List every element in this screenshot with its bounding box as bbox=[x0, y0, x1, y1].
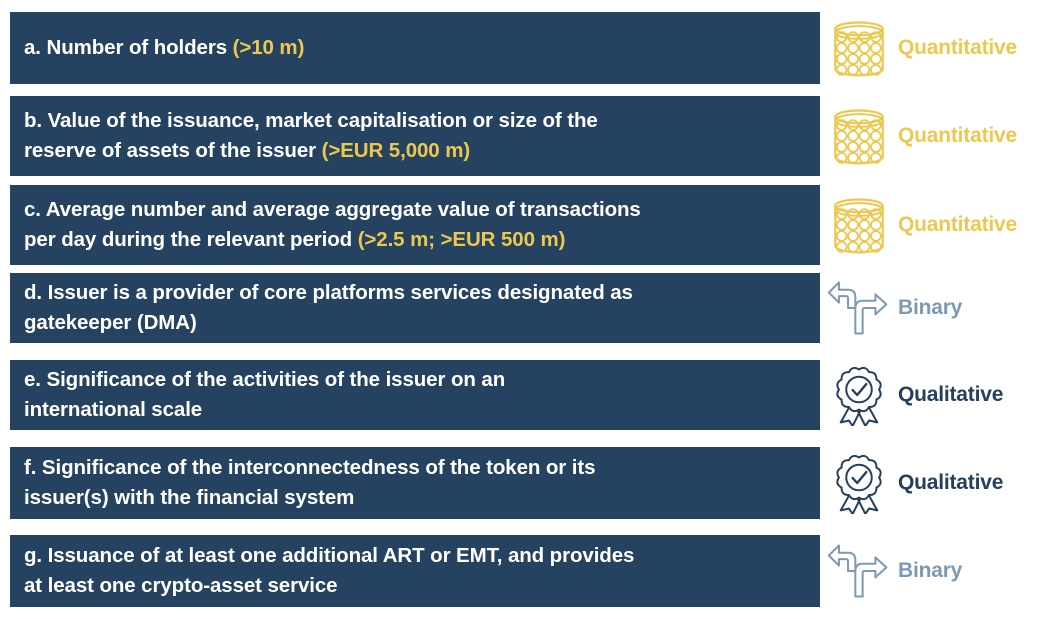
type-label-binary: Binary bbox=[898, 296, 962, 320]
criterion-label-c: c. Average number and average aggregate … bbox=[24, 198, 641, 221]
type-label-qualitative: Qualitative bbox=[898, 383, 1003, 407]
criterion-label-d: d. Issuer is a provider of core platform… bbox=[24, 281, 633, 304]
type-label-quantitative: Quantitative bbox=[898, 36, 1017, 60]
cylinder-of-coins-icon bbox=[828, 194, 890, 256]
criterion-label-b: b. Value of the issuance, market capital… bbox=[24, 109, 598, 132]
criterion-text-line: e. Significance of the activities of the… bbox=[24, 365, 806, 395]
criterion-text-line: international scale bbox=[24, 395, 806, 425]
criterion-label-f: issuer(s) with the financial system bbox=[24, 486, 354, 509]
criterion-type-c: Quantitative bbox=[828, 194, 1017, 256]
criterion-box-a: a. Number of holders (>10 m) bbox=[10, 12, 820, 84]
criterion-label-c: per day during the relevant period bbox=[24, 228, 358, 251]
criteria-list: a. Number of holders (>10 m)Quantitative… bbox=[0, 0, 1060, 619]
criterion-type-d: Binary bbox=[828, 277, 962, 339]
criterion-threshold-a: (>10 m) bbox=[233, 36, 305, 59]
criterion-box-b: b. Value of the issuance, market capital… bbox=[10, 96, 820, 176]
criterion-row-a: a. Number of holders (>10 m)Quantitative bbox=[0, 12, 1060, 84]
criterion-row-e: e. Significance of the activities of the… bbox=[0, 360, 1060, 430]
fork-arrows-icon bbox=[828, 277, 890, 339]
criterion-text-line: a. Number of holders (>10 m) bbox=[24, 33, 806, 63]
type-label-quantitative: Quantitative bbox=[898, 213, 1017, 237]
criterion-text-line: reserve of assets of the issuer (>EUR 5,… bbox=[24, 136, 806, 166]
criterion-text-line: d. Issuer is a provider of core platform… bbox=[24, 278, 806, 308]
criterion-text-line: g. Issuance of at least one additional A… bbox=[24, 541, 806, 571]
criterion-label-e: international scale bbox=[24, 398, 202, 421]
criterion-row-c: c. Average number and average aggregate … bbox=[0, 185, 1060, 265]
criterion-box-c: c. Average number and average aggregate … bbox=[10, 185, 820, 265]
type-label-quantitative: Quantitative bbox=[898, 124, 1017, 148]
type-label-qualitative: Qualitative bbox=[898, 471, 1003, 495]
criterion-type-g: Binary bbox=[828, 540, 962, 602]
fork-arrows-icon bbox=[828, 540, 890, 602]
criterion-threshold-b: (>EUR 5,000 m) bbox=[322, 139, 470, 162]
criterion-text-line: b. Value of the issuance, market capital… bbox=[24, 106, 806, 136]
cylinder-of-coins-icon bbox=[828, 105, 890, 167]
criterion-label-d: gatekeeper (DMA) bbox=[24, 311, 197, 334]
criterion-box-d: d. Issuer is a provider of core platform… bbox=[10, 273, 820, 343]
criterion-text-line: at least one crypto-asset service bbox=[24, 571, 806, 601]
criterion-type-f: Qualitative bbox=[828, 452, 1003, 514]
criterion-text-line: per day during the relevant period (>2.5… bbox=[24, 225, 806, 255]
criterion-label-a: a. Number of holders bbox=[24, 36, 233, 59]
criterion-text-line: gatekeeper (DMA) bbox=[24, 308, 806, 338]
criterion-type-e: Qualitative bbox=[828, 364, 1003, 426]
criterion-row-b: b. Value of the issuance, market capital… bbox=[0, 96, 1060, 176]
rosette-check-icon bbox=[828, 452, 890, 514]
criterion-label-g: g. Issuance of at least one additional A… bbox=[24, 544, 634, 567]
criterion-box-g: g. Issuance of at least one additional A… bbox=[10, 535, 820, 607]
cylinder-of-coins-icon bbox=[828, 17, 890, 79]
criterion-row-f: f. Significance of the interconnectednes… bbox=[0, 447, 1060, 519]
criterion-row-d: d. Issuer is a provider of core platform… bbox=[0, 273, 1060, 343]
criterion-label-b: reserve of assets of the issuer bbox=[24, 139, 322, 162]
criterion-text-line: c. Average number and average aggregate … bbox=[24, 195, 806, 225]
type-label-binary: Binary bbox=[898, 559, 962, 583]
criterion-text-line: issuer(s) with the financial system bbox=[24, 483, 806, 513]
criterion-type-a: Quantitative bbox=[828, 17, 1017, 79]
criterion-threshold-c: (>2.5 m; >EUR 500 m) bbox=[358, 228, 566, 251]
criterion-label-g: at least one crypto-asset service bbox=[24, 574, 337, 597]
rosette-check-icon bbox=[828, 364, 890, 426]
criterion-box-e: e. Significance of the activities of the… bbox=[10, 360, 820, 430]
criterion-box-f: f. Significance of the interconnectednes… bbox=[10, 447, 820, 519]
criterion-label-e: e. Significance of the activities of the… bbox=[24, 368, 505, 391]
criterion-text-line: f. Significance of the interconnectednes… bbox=[24, 453, 806, 483]
criterion-row-g: g. Issuance of at least one additional A… bbox=[0, 535, 1060, 607]
criterion-type-b: Quantitative bbox=[828, 105, 1017, 167]
criterion-label-f: f. Significance of the interconnectednes… bbox=[24, 456, 595, 479]
